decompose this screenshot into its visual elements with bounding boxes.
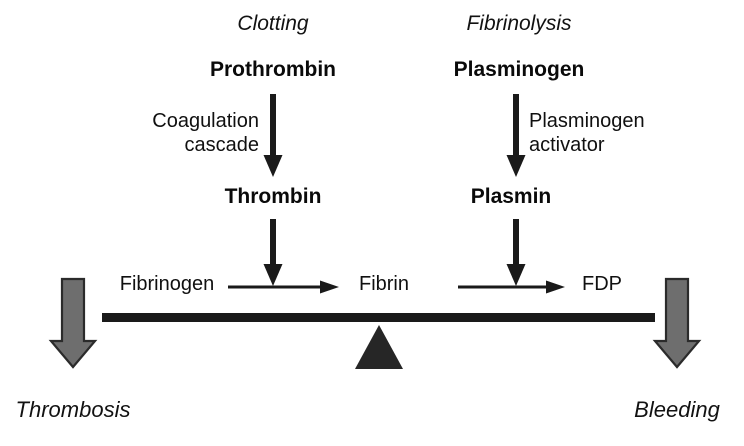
arrow-plasmin-to-reaction	[507, 219, 526, 286]
label-thrombosis: Thrombosis	[16, 397, 131, 423]
gray-arrow-bleeding-down	[655, 279, 699, 367]
label-fdp: FDP	[582, 273, 622, 297]
arrow-fibrin-to-fdp	[458, 281, 565, 294]
annotation-coagulation-cascade-line1: Coagulation	[137, 110, 259, 134]
diagram-vector-layer	[0, 0, 744, 446]
annotation-coagulation-cascade: Coagulation cascade	[137, 110, 259, 157]
fibrinolysis-balance-diagram: Clotting Fibrinolysis Prothrombin Plasmi…	[0, 0, 744, 446]
balance-beam	[102, 313, 655, 322]
heading-fibrinolysis: Fibrinolysis	[466, 12, 571, 37]
label-fibrinogen: Fibrinogen	[120, 273, 215, 297]
label-fibrin: Fibrin	[359, 273, 409, 297]
label-thrombin: Thrombin	[225, 185, 322, 210]
label-plasmin: Plasmin	[471, 185, 552, 210]
annotation-plasminogen-activator-line2: activator	[529, 134, 669, 158]
heading-clotting: Clotting	[237, 12, 308, 37]
label-bleeding: Bleeding	[634, 397, 720, 423]
label-plasminogen: Plasminogen	[454, 58, 585, 83]
label-prothrombin: Prothrombin	[210, 58, 336, 83]
arrow-plasminogen-activator-down	[507, 94, 526, 177]
annotation-coagulation-cascade-line2: cascade	[137, 134, 259, 158]
annotation-plasminogen-activator: Plasminogen activator	[529, 110, 669, 157]
gray-arrow-thrombosis-down	[51, 279, 95, 367]
arrow-fibrinogen-to-fibrin	[228, 281, 339, 294]
balance-fulcrum-triangle	[355, 325, 403, 369]
annotation-plasminogen-activator-line1: Plasminogen	[529, 110, 669, 134]
arrow-coagulation-cascade-down	[264, 94, 283, 177]
arrow-thrombin-to-reaction	[264, 219, 283, 286]
